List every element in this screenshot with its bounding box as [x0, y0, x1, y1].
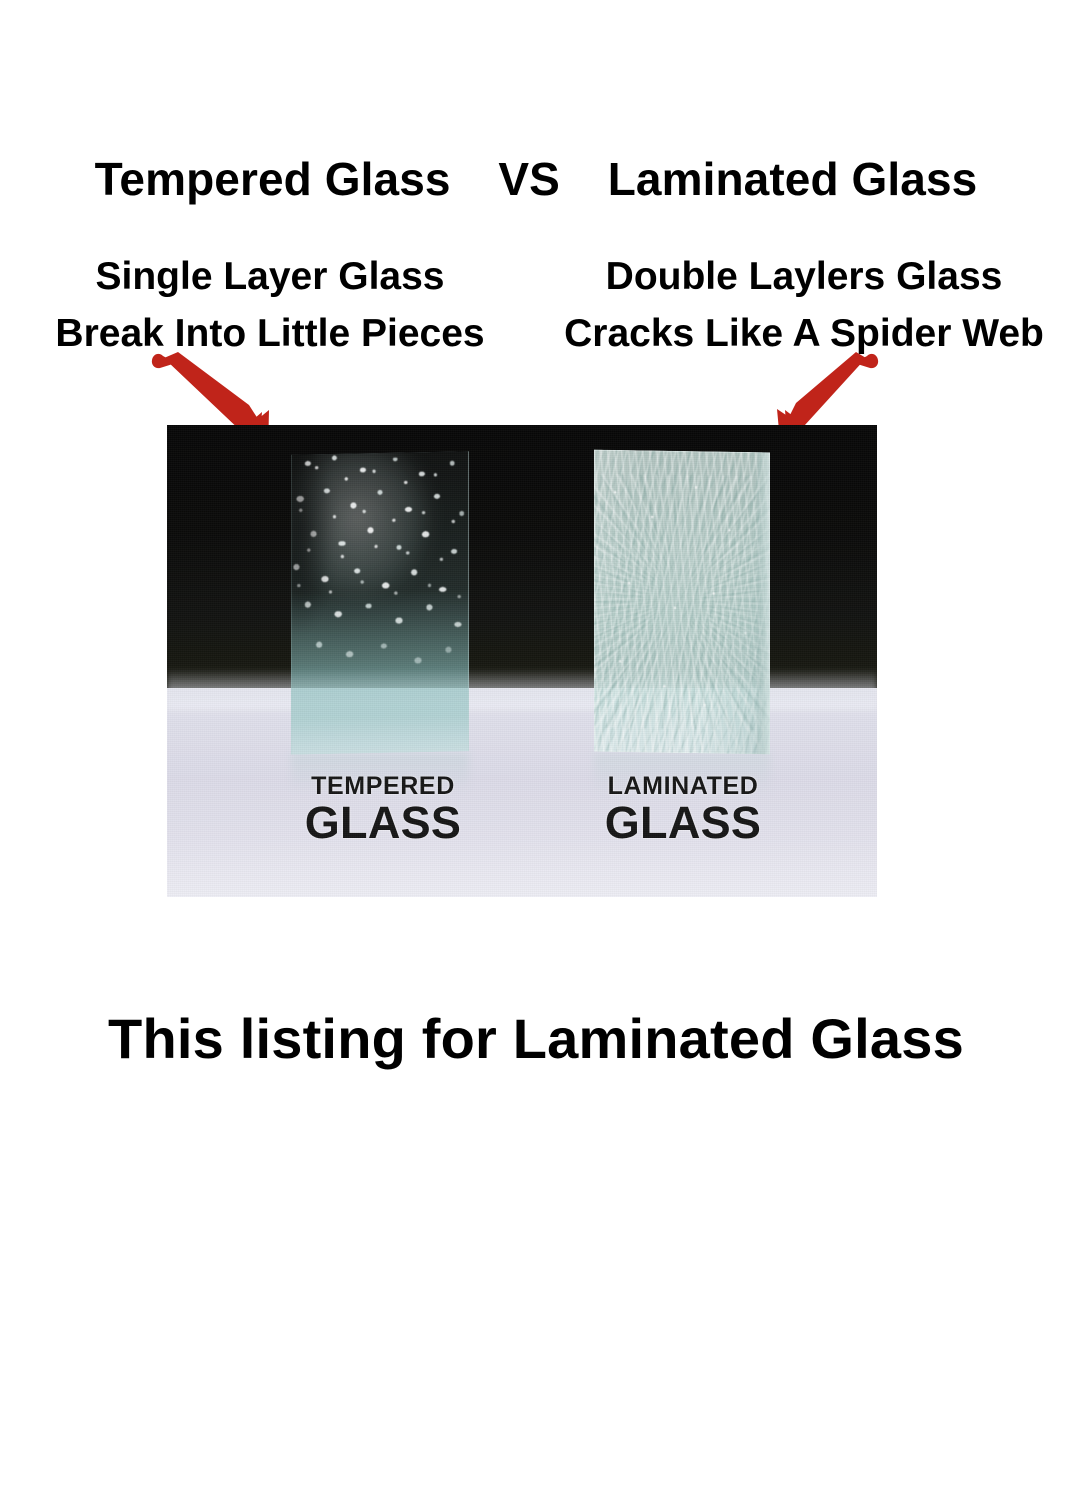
listing-note: This listing for Laminated Glass: [0, 1006, 1072, 1072]
tempered-panel-body: [291, 451, 469, 754]
caption-laminated-line2: Cracks Like A Spider Web: [536, 305, 1072, 362]
laminated-panel-edge: [757, 452, 770, 754]
caption-tempered-line2: Break Into Little Pieces: [0, 305, 540, 362]
title-right-product: Laminated Glass: [608, 153, 978, 205]
laminated-panel-body: [594, 450, 770, 755]
photo-label-tempered-small: TEMPERED: [263, 772, 503, 800]
photo-label-tempered-big: GLASS: [263, 800, 503, 846]
tempered-panel-shadow: [291, 451, 352, 658]
page-title: Tempered Glass VS Laminated Glass: [0, 152, 1072, 206]
photo-label-laminated-big: GLASS: [561, 800, 805, 846]
laminated-glass-panel: [594, 450, 770, 755]
photo-dark-background: [167, 425, 877, 689]
photo-label-tempered: TEMPERED GLASS: [263, 772, 503, 846]
infographic-canvas: Tempered Glass VS Laminated Glass Single…: [0, 0, 1072, 1500]
photo-label-laminated: LAMINATED GLASS: [561, 772, 805, 846]
comparison-photo: TEMPERED GLASS LAMINATED GLASS: [167, 425, 877, 897]
photo-label-laminated-small: LAMINATED: [561, 772, 805, 800]
caption-laminated-line1: Double Laylers Glass: [536, 248, 1072, 305]
title-vs-separator: VS: [498, 153, 560, 205]
laminated-panel-sheen: [594, 450, 770, 755]
caption-block-tempered: Single Layer Glass Break Into Little Pie…: [0, 248, 540, 362]
tempered-glass-panel: [291, 451, 469, 754]
comparison-captions: Single Layer Glass Break Into Little Pie…: [0, 248, 1072, 358]
title-left-product: Tempered Glass: [95, 153, 451, 205]
photo-horizon-glow: [167, 669, 877, 709]
caption-tempered-line1: Single Layer Glass: [0, 248, 540, 305]
caption-block-laminated: Double Laylers Glass Cracks Like A Spide…: [536, 248, 1072, 362]
